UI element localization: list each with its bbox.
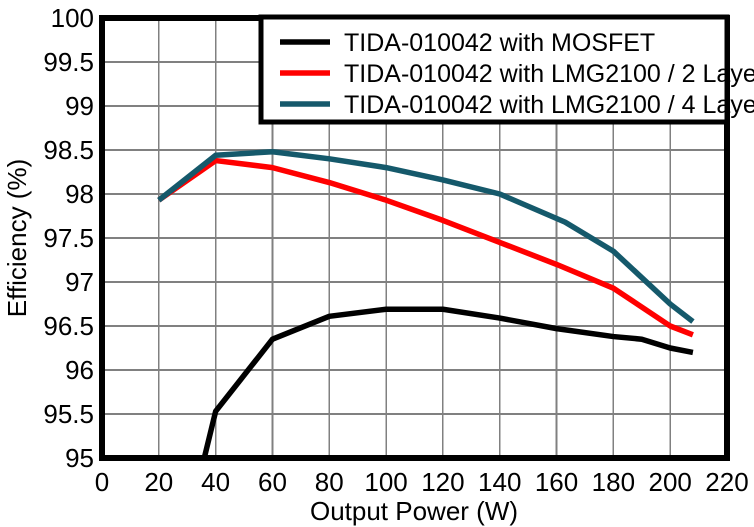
x-tick-label: 60 xyxy=(258,467,287,497)
y-tick-label: 98 xyxy=(65,179,94,209)
x-tick-label: 180 xyxy=(592,467,635,497)
legend-label-0: TIDA-010042 with MOSFET xyxy=(344,29,655,57)
x-tick-label: 120 xyxy=(421,467,464,497)
y-tick-label: 96 xyxy=(65,355,94,385)
efficiency-line-chart: 9595.59696.59797.59898.59999.5100 020406… xyxy=(0,0,754,527)
legend-label-2: TIDA-010042 with LMG2100 / 4 Layer xyxy=(344,91,754,119)
y-tick-label: 97 xyxy=(65,267,94,297)
series-line-0 xyxy=(204,309,693,458)
x-tick-label: 20 xyxy=(144,467,173,497)
x-tick-label: 80 xyxy=(315,467,344,497)
y-tick-label: 98.5 xyxy=(43,135,94,165)
y-tick-label: 99 xyxy=(65,91,94,121)
y-tick-labels: 9595.59696.59797.59898.59999.5100 xyxy=(43,3,94,473)
chart-canvas: 9595.59696.59797.59898.59999.5100 020406… xyxy=(0,0,754,527)
x-axis-title: Output Power (W) xyxy=(310,496,518,526)
y-tick-label: 97.5 xyxy=(43,223,94,253)
legend: TIDA-010042 with MOSFETTIDA-010042 with … xyxy=(261,17,754,122)
y-tick-label: 96.5 xyxy=(43,311,94,341)
x-tick-label: 200 xyxy=(648,467,691,497)
x-tick-label: 140 xyxy=(478,467,521,497)
y-tick-label: 99.5 xyxy=(43,47,94,77)
x-tick-label: 220 xyxy=(705,467,748,497)
y-tick-label: 95.5 xyxy=(43,399,94,429)
y-tick-label: 100 xyxy=(51,3,94,33)
y-tick-label: 95 xyxy=(65,443,94,473)
x-tick-labels: 020406080100120140160180200220 xyxy=(95,467,749,497)
y-axis-title: Efficiency (%) xyxy=(2,159,32,317)
legend-label-1: TIDA-010042 with LMG2100 / 2 Layer xyxy=(344,60,754,88)
x-tick-label: 0 xyxy=(95,467,109,497)
x-tick-label: 100 xyxy=(364,467,407,497)
x-tick-label: 40 xyxy=(201,467,230,497)
x-tick-label: 160 xyxy=(535,467,578,497)
